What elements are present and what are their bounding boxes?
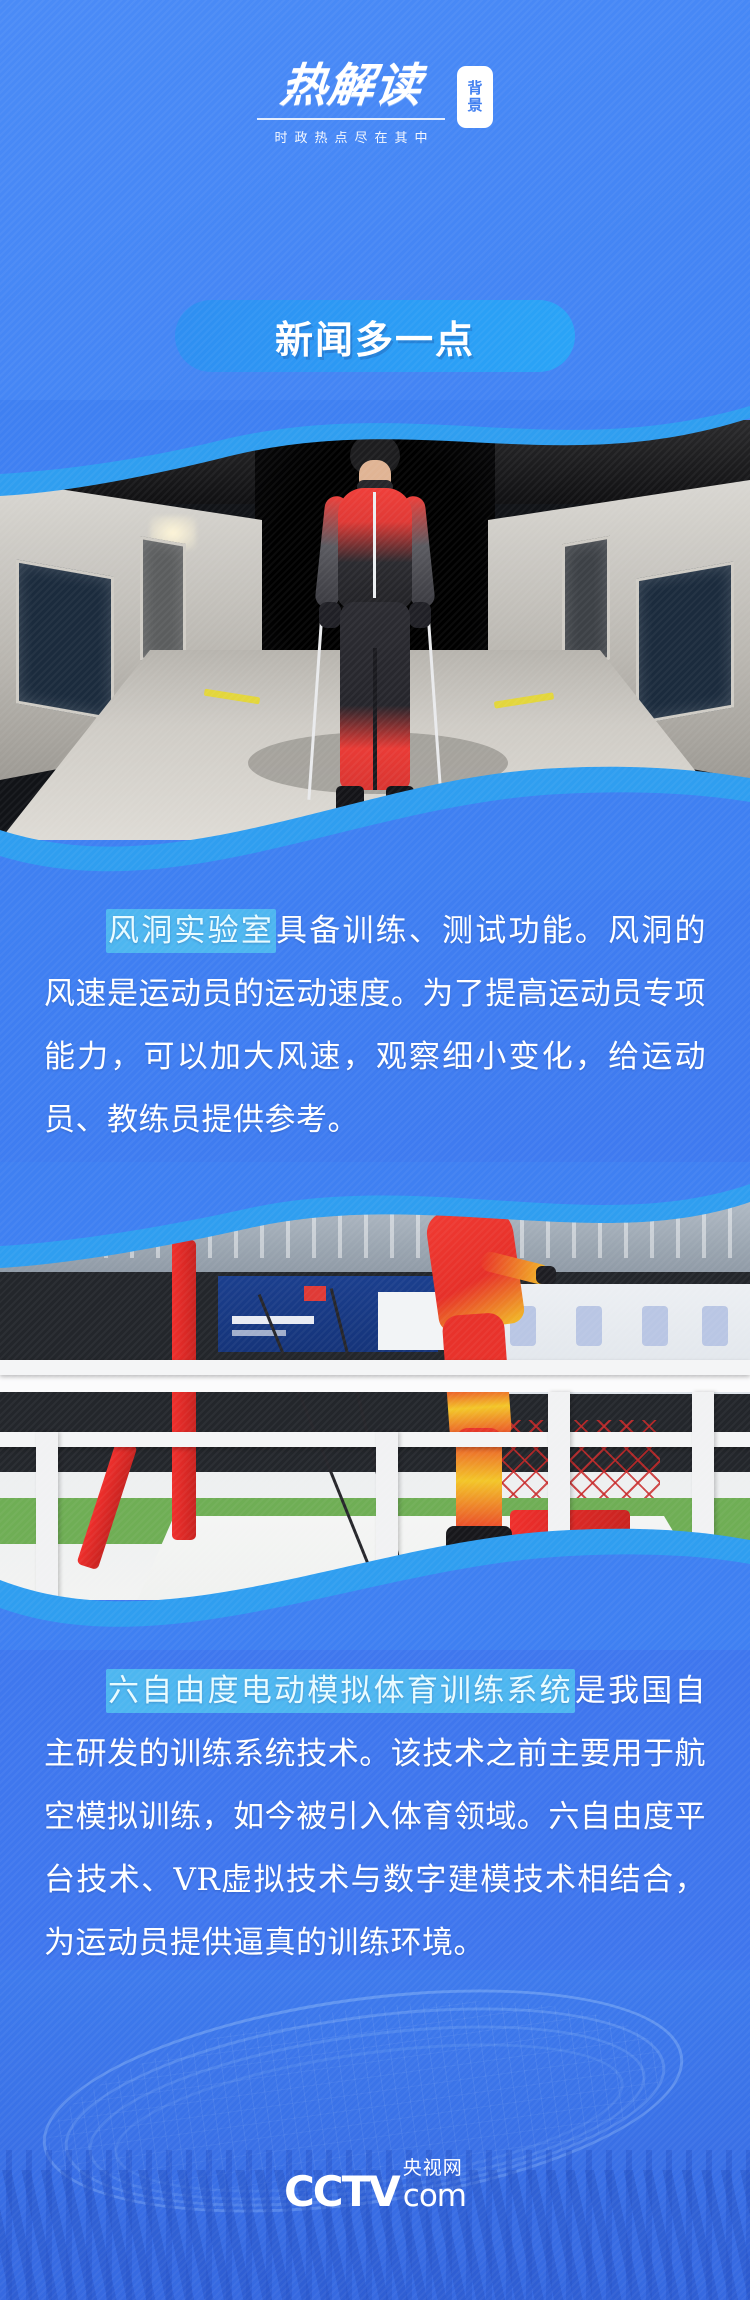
brand-divider	[257, 118, 445, 120]
photo-indoor-ski-training	[0, 1180, 750, 1600]
athlete-gloved-hand	[536, 1266, 556, 1284]
brand-logo-text: 热解读	[278, 62, 424, 108]
paragraph-six-dof: 六自由度电动模拟体育训练系统是我国自主研发的训练系统技术。该技术之前主要用于航空…	[44, 1660, 706, 1975]
cctv-wordmark: CCTV	[284, 2172, 399, 2212]
section-title-banner: 新闻多一点	[175, 300, 575, 372]
guardrail-post-1	[36, 1432, 58, 1600]
brand-tagline: 时政热点尽在其中	[267, 127, 434, 146]
athlete-leg-gap	[373, 648, 377, 790]
cctv-logo-right: 央视网 com	[403, 2159, 466, 2212]
category-badge: 背 景	[457, 66, 493, 128]
paragraph-wind-tunnel: 风洞实验室具备训练、测试功能。风洞的风速是运动员的运动速度。为了提高运动员专项能…	[44, 900, 706, 1152]
cctv-domain-suffix: com	[403, 2181, 466, 2212]
keyword-highlight-six-dof: 六自由度电动模拟体育训练系统	[106, 1669, 575, 1713]
paragraph-body-six-dof: 是我国自主研发的训练系统技术。该技术之前主要用于航空模拟训练，如今被引入体育领域…	[44, 1673, 706, 1961]
banner-flag	[304, 1286, 326, 1301]
category-badge-line-2: 景	[467, 97, 482, 114]
ski-binding	[460, 1560, 532, 1569]
photo-wind-tunnel	[0, 420, 750, 840]
athlete-glove-left	[319, 602, 341, 628]
hall-roof-beams	[0, 1188, 750, 1258]
article-section-wind-tunnel: 风洞实验室具备训练、测试功能。风洞的风速是运动员的运动速度。为了提高运动员专项能…	[0, 900, 750, 1152]
athlete-suit-zipper	[373, 492, 376, 598]
poster-footer: CCTV 央视网 com	[0, 1970, 750, 2300]
guardrail-bar-upper	[0, 1360, 750, 1375]
keyword-highlight-wind-tunnel: 风洞实验室	[106, 909, 276, 953]
athlete-glove-right	[409, 602, 431, 628]
guardrail-post-4	[692, 1392, 714, 1582]
brand-stack: 热解读 时政热点尽在其中	[257, 62, 445, 146]
category-badge-line-1: 背	[467, 80, 482, 97]
athlete-hood-stripe	[460, 1180, 486, 1188]
panel-glyph-2	[576, 1306, 602, 1346]
indoor-training-hall	[0, 1180, 750, 1600]
poster-root: 热解读 时政热点尽在其中 背 景 新闻多一点	[0, 0, 750, 2300]
brand-lockup: 热解读 时政热点尽在其中 背 景	[0, 62, 750, 146]
guardrail-post-2	[376, 1432, 398, 1600]
cctv-logo: CCTV 央视网 com	[284, 2159, 466, 2212]
stadium-backdrop	[0, 1970, 750, 2300]
tunnel-window-right-2	[562, 536, 610, 668]
ski-pole-left	[307, 610, 323, 800]
guardrail-post-3	[548, 1392, 570, 1600]
panel-glyph-3	[642, 1306, 668, 1346]
tunnel-window-left-1	[16, 559, 114, 720]
ski-left	[324, 812, 376, 821]
ski-right	[374, 812, 426, 821]
banner-text-line-1	[232, 1316, 314, 1324]
section-title-label: 新闻多一点	[275, 309, 475, 364]
footer-blue-overlay	[0, 1970, 750, 2300]
tunnel-window-left-2	[140, 536, 186, 668]
wind-tunnel-scene	[0, 420, 750, 840]
panel-glyph-4	[702, 1306, 728, 1346]
athlete-wind-tunnel	[310, 434, 440, 824]
poster-header: 热解读 时政热点尽在其中 背 景	[0, 0, 750, 300]
guardrail-bar-lower	[0, 1432, 750, 1447]
banner-text-line-2	[232, 1330, 286, 1336]
cctv-chinese-name: 央视网	[403, 2159, 463, 2178]
article-section-six-dof: 六自由度电动模拟体育训练系统是我国自主研发的训练系统技术。该技术之前主要用于航空…	[0, 1660, 750, 1975]
athlete-goggles	[480, 1196, 504, 1206]
tunnel-window-right-1	[636, 561, 734, 724]
